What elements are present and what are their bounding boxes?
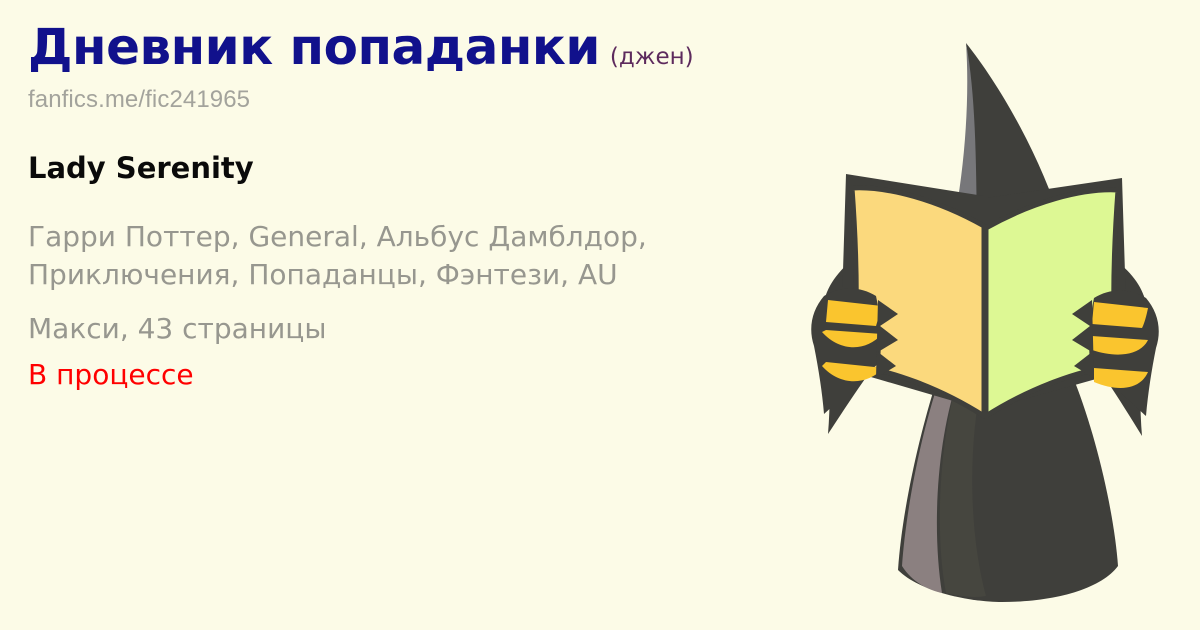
text-column: Дневник попаданки(джен) fanfics.me/fic24… [28, 22, 788, 393]
source-url: fanfics.me/fic241965 [28, 86, 788, 114]
title-row: Дневник попаданки(джен) [28, 22, 788, 72]
fanfic-preview-card: Дневник попаданки(джен) fanfics.me/fic24… [0, 0, 1200, 630]
witch-reading-book-illustration [770, 10, 1200, 630]
page-title: Дневник попаданки [28, 18, 600, 76]
author-name: Lady Serenity [28, 151, 788, 185]
metadata-block: Гарри Поттер, General, Альбус Дамблдор, … [28, 218, 788, 393]
size-pages: Макси, 43 страницы [28, 311, 788, 347]
status-badge: В процессе [28, 357, 788, 393]
fandom-genre-tags: Гарри Поттер, General, Альбус Дамблдор, … [28, 218, 688, 294]
rating-badge: (джен) [610, 44, 694, 70]
